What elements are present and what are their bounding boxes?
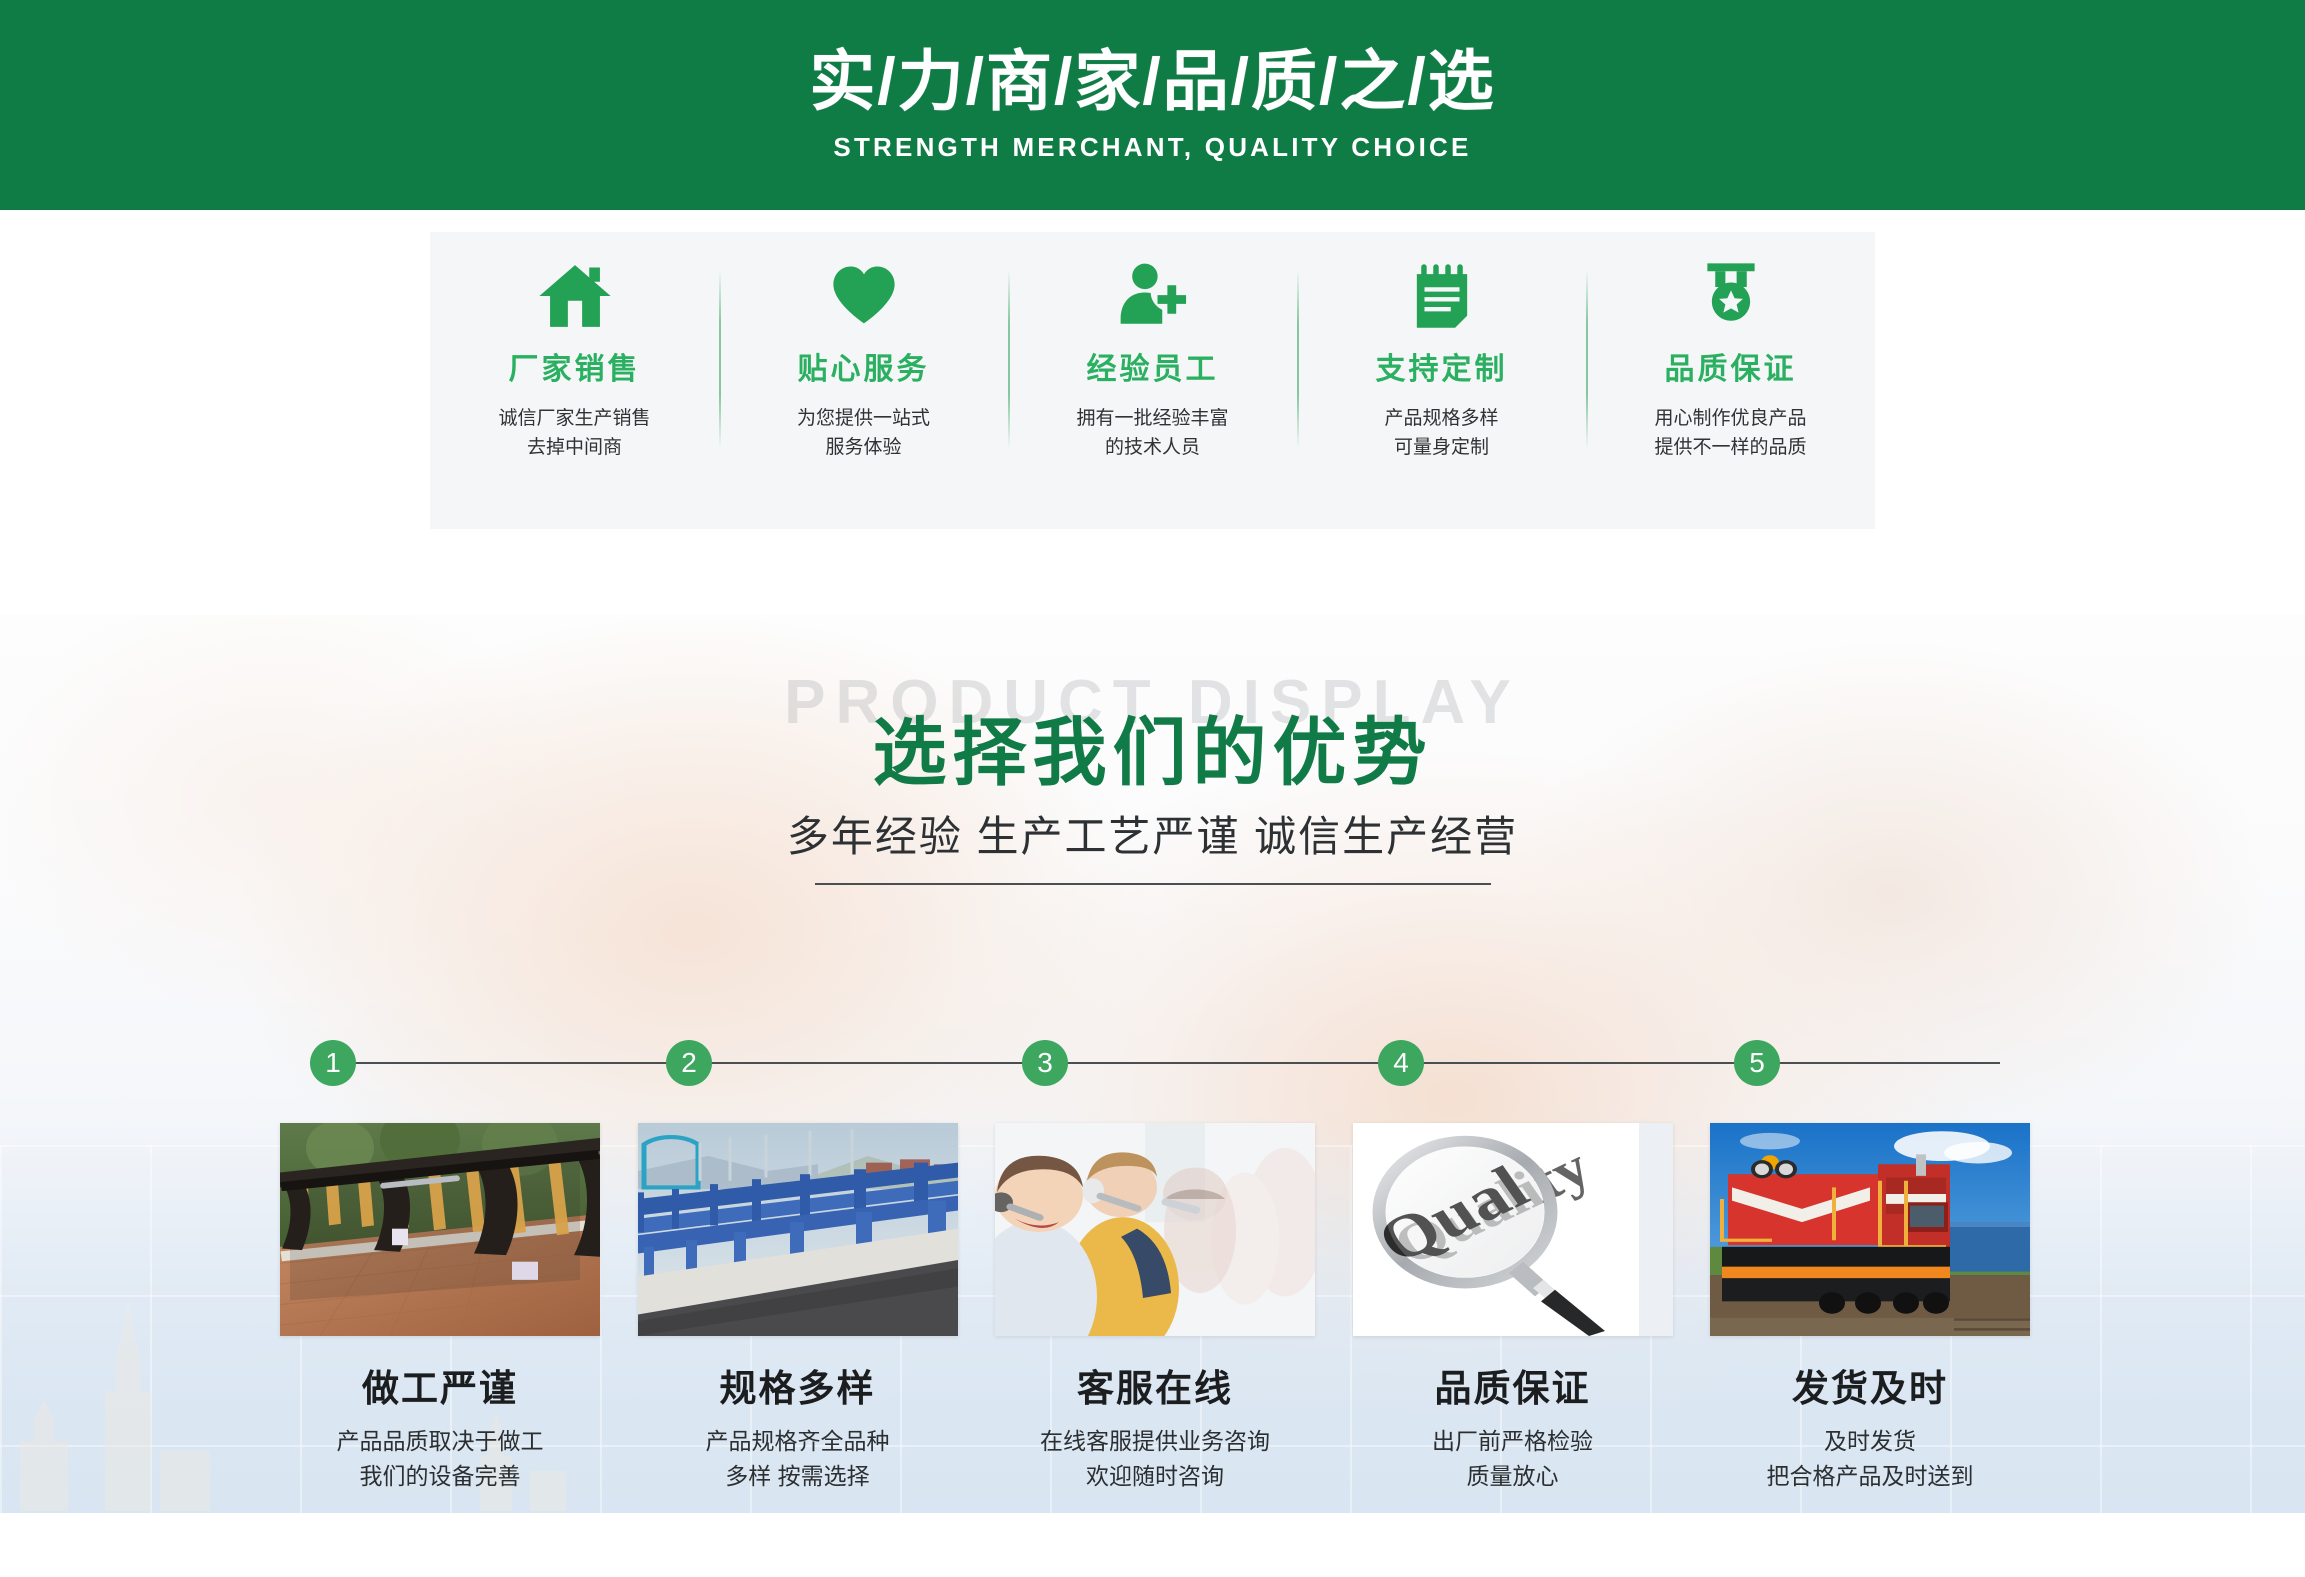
feature-title: 支持定制 <box>1376 344 1508 388</box>
feature-desc: 为您提供一站式 服务体验 <box>797 404 930 463</box>
section-title: 选择我们的优势 <box>0 693 2305 800</box>
card-title: 做工严谨 <box>362 1358 518 1412</box>
timeline-node-3[interactable]: 3 <box>1022 1040 1068 1086</box>
card-desc: 产品品质取决于做工 我们的设备完善 <box>337 1424 544 1493</box>
card-desc: 在线客服提供业务咨询 欢迎随时咨询 <box>1040 1424 1270 1493</box>
advantage-card[interactable]: 做工严谨 产品品质取决于做工 我们的设备完善 <box>280 1123 600 1493</box>
background-bottom-fade <box>0 1513 2305 1545</box>
feature-desc-line1: 诚信厂家生产销售 <box>498 404 650 433</box>
advantages-timeline: 1 2 3 4 5 <box>310 1040 2000 1086</box>
card-desc-line1: 产品规格齐全品种 <box>706 1424 890 1459</box>
card-desc: 出厂前严格检验 质量放心 <box>1432 1424 1593 1493</box>
section-divider <box>815 883 1491 885</box>
feature-desc-line2: 可量身定制 <box>1384 433 1498 462</box>
user-plus-icon <box>1110 258 1196 334</box>
card-title: 发货及时 <box>1792 1358 1948 1412</box>
card-title: 规格多样 <box>720 1358 876 1412</box>
card-desc: 产品规格齐全品种 多样 按需选择 <box>706 1424 890 1493</box>
feature-desc-line2: 的技术人员 <box>1076 433 1228 462</box>
timeline-node-2[interactable]: 2 <box>666 1040 712 1086</box>
feature-desc-line1: 拥有一批经验丰富 <box>1076 404 1228 433</box>
card-title: 客服在线 <box>1077 1358 1233 1412</box>
section-subtitle: 多年经验 生产工艺严谨 诚信生产经营 <box>0 803 2305 864</box>
feature-desc-line1: 产品规格多样 <box>1384 404 1498 433</box>
feature-desc-line1: 用心制作优良产品 <box>1654 404 1806 433</box>
card-desc: 及时发货 把合格产品及时送到 <box>1767 1424 1974 1493</box>
feature-item-quality-guarantee[interactable]: 品质保证 用心制作优良产品 提供不一样的品质 <box>1586 232 1875 529</box>
features-section: 厂家销售 诚信厂家生产销售 去掉中间商 贴心服务 为您提供一站式 服务体验 <box>0 210 2305 615</box>
card-desc-line1: 及时发货 <box>1767 1424 1974 1459</box>
card-desc-line1: 产品品质取决于做工 <box>337 1424 544 1459</box>
feature-item-caring-service[interactable]: 贴心服务 为您提供一站式 服务体验 <box>719 232 1008 529</box>
feature-desc-line2: 服务体验 <box>797 433 930 462</box>
banner-subtitle: STRENGTH MERCHANT, QUALITY CHOICE <box>833 132 1471 163</box>
call-center-photo <box>995 1123 1315 1336</box>
feature-title: 经验员工 <box>1087 344 1219 388</box>
house-icon <box>532 258 618 334</box>
freight-train-photo <box>1710 1123 2030 1336</box>
timeline-node-4[interactable]: 4 <box>1378 1040 1424 1086</box>
card-desc-line1: 出厂前严格检验 <box>1432 1424 1593 1459</box>
feature-item-experienced-staff[interactable]: 经验员工 拥有一批经验丰富 的技术人员 <box>1008 232 1297 529</box>
notepad-icon <box>1399 258 1485 334</box>
card-desc-line2: 质量放心 <box>1432 1459 1593 1494</box>
advantages-card-list: 做工严谨 产品品质取决于做工 我们的设备完善 <box>280 1123 2030 1493</box>
header-banner: 实/力/商/家/品/质/之/选 STRENGTH MERCHANT, QUALI… <box>0 0 2305 210</box>
feature-desc-line2: 去掉中间商 <box>498 433 650 462</box>
feature-title: 厂家销售 <box>509 344 641 388</box>
feature-desc: 诚信厂家生产销售 去掉中间商 <box>498 404 650 463</box>
timeline-node-1[interactable]: 1 <box>310 1040 356 1086</box>
card-desc-line2: 欢迎随时咨询 <box>1040 1459 1270 1494</box>
quality-magnifier-photo: Quality Qual <box>1353 1123 1673 1336</box>
feature-desc-line1: 为您提供一站式 <box>797 404 930 433</box>
features-panel: 厂家销售 诚信厂家生产销售 去掉中间商 贴心服务 为您提供一站式 服务体验 <box>430 232 1875 529</box>
feature-item-factory-sales[interactable]: 厂家销售 诚信厂家生产销售 去掉中间商 <box>430 232 719 529</box>
card-desc-line1: 在线客服提供业务咨询 <box>1040 1424 1270 1459</box>
blue-guardrail-photo <box>638 1123 958 1336</box>
card-title: 品质保证 <box>1435 1358 1591 1412</box>
feature-desc: 拥有一批经验丰富 的技术人员 <box>1076 404 1228 463</box>
advantage-card[interactable]: 客服在线 在线客服提供业务咨询 欢迎随时咨询 <box>995 1123 1315 1493</box>
banner-title: 实/力/商/家/品/质/之/选 <box>809 47 1495 116</box>
heart-icon <box>821 258 907 334</box>
timeline-node-5[interactable]: 5 <box>1734 1040 1780 1086</box>
card-desc-line2: 把合格产品及时送到 <box>1767 1459 1974 1494</box>
feature-desc: 用心制作优良产品 提供不一样的品质 <box>1654 404 1806 463</box>
feature-title: 品质保证 <box>1665 344 1797 388</box>
feature-desc-line2: 提供不一样的品质 <box>1654 433 1806 462</box>
advantage-card[interactable]: Quality Qual 品质保证 出厂前严格检验 质量放心 <box>1353 1123 1673 1493</box>
bridge-railing-photo <box>280 1123 600 1336</box>
advantage-card[interactable]: 规格多样 产品规格齐全品种 多样 按需选择 <box>638 1123 958 1493</box>
card-desc-line2: 多样 按需选择 <box>706 1459 890 1494</box>
feature-item-customization[interactable]: 支持定制 产品规格多样 可量身定制 <box>1297 232 1586 529</box>
feature-title: 贴心服务 <box>798 344 930 388</box>
feature-desc: 产品规格多样 可量身定制 <box>1384 404 1498 463</box>
card-desc-line2: 我们的设备完善 <box>337 1459 544 1494</box>
medal-icon <box>1688 258 1774 334</box>
advantage-card[interactable]: 发货及时 及时发货 把合格产品及时送到 <box>1710 1123 2030 1493</box>
advantages-section: PRODUCT DISPLAY 选择我们的优势 多年经验 生产工艺严谨 诚信生产… <box>0 615 2305 1545</box>
